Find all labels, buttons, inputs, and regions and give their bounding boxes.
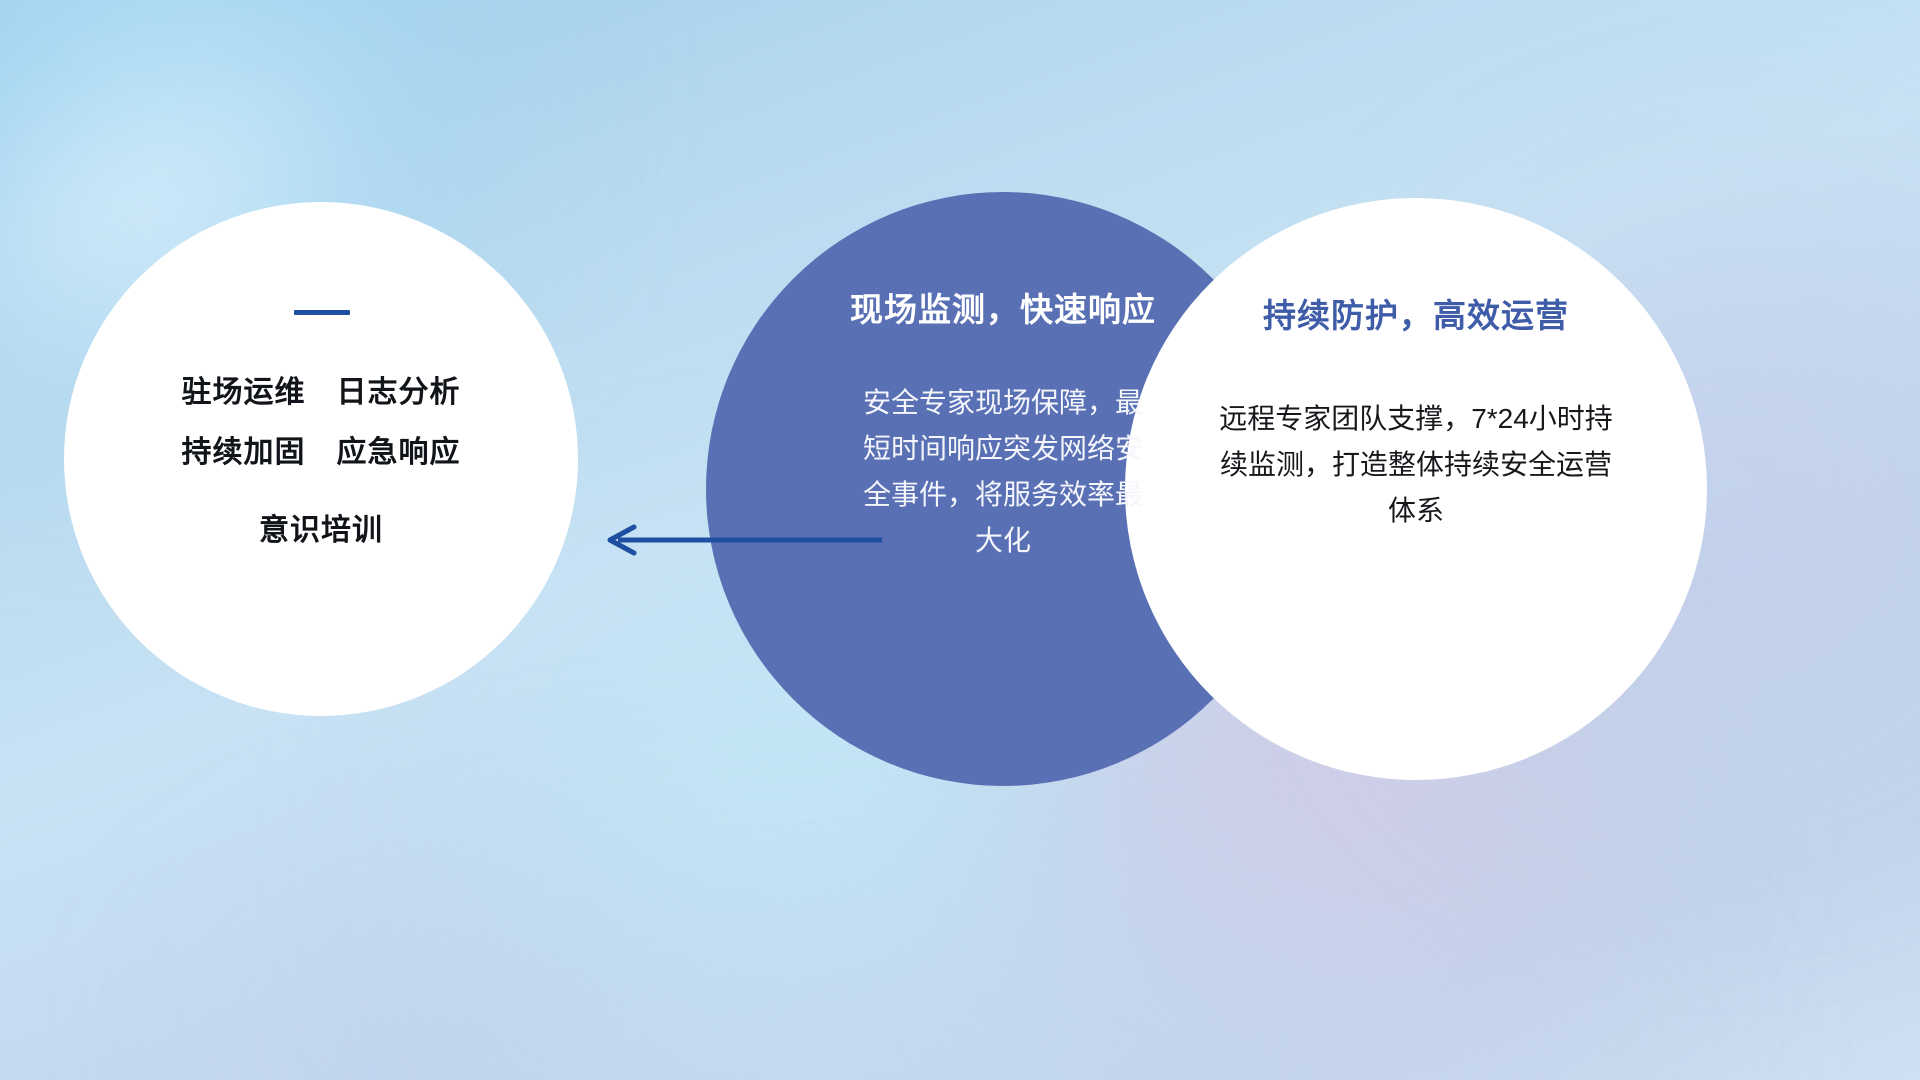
left-service-line-2: 持续加固 应急响应 bbox=[182, 423, 461, 483]
right-circle-title: 持续防护，高效运营 bbox=[1263, 294, 1569, 338]
left-service-list: 驻场运维 日志分析 持续加固 应急响应 意识培训 bbox=[182, 363, 461, 561]
middle-circle-body: 安全专家现场保障，最短时间响应突发网络安全事件，将服务效率最大化 bbox=[853, 380, 1153, 564]
horizontal-dash-icon bbox=[294, 310, 350, 315]
left-circle-content: 驻场运维 日志分析 持续加固 应急响应 意识培训 bbox=[64, 202, 578, 716]
right-circle-body: 远程专家团队支撑，7*24小时持续监测，打造整体持续安全运营体系 bbox=[1216, 396, 1616, 534]
middle-circle-title: 现场监测，快速响应 bbox=[850, 288, 1156, 332]
left-service-line-3: 意识培训 bbox=[182, 501, 461, 561]
slide-canvas: 驻场运维 日志分析 持续加固 应急响应 意识培训 现场监测，快速响应 安全专家现… bbox=[0, 0, 1920, 1080]
right-circle-content: 持续防护，高效运营 远程专家团队支撑，7*24小时持续监测，打造整体持续安全运营… bbox=[1125, 198, 1707, 780]
left-service-line-1: 驻场运维 日志分析 bbox=[182, 363, 461, 423]
